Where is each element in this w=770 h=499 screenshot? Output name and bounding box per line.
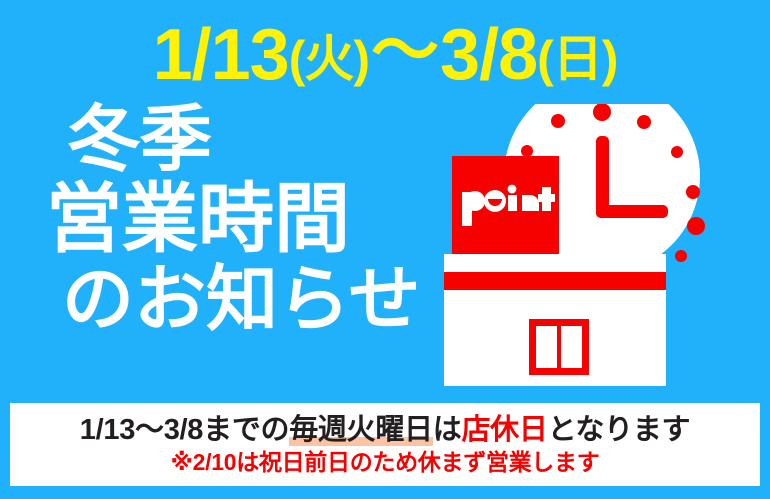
store-clock-illustration xyxy=(444,104,744,389)
main-copy: 冬季 営業時間 のお知らせ xyxy=(46,104,446,336)
main-copy-line-2: 営業時間 xyxy=(46,182,446,258)
notice-box: 1/13〜3/8までの毎週火曜日は店休日となります ※2/10は祝日前日のため休… xyxy=(10,403,760,486)
notice-closed-label: 店休日 xyxy=(461,414,547,446)
door-panel-right xyxy=(561,326,582,368)
door-panel-left xyxy=(536,326,557,368)
notice-particle: は xyxy=(433,414,462,446)
notice-period-text: 1/13〜3/8までの xyxy=(80,414,289,446)
store-entrance xyxy=(529,319,589,375)
headline-start-date: 1/13 xyxy=(153,19,289,91)
notice-suffix: となります xyxy=(548,414,691,446)
main-copy-line-3: のお知らせ xyxy=(62,264,446,336)
headline-end-day: (日) xyxy=(537,34,617,84)
building-stripe xyxy=(444,272,666,290)
clock-marker-10 xyxy=(521,145,533,157)
clock-marker-2 xyxy=(671,146,683,158)
headline-date-range: 1/13(火)〜3/8(日) xyxy=(0,16,770,94)
headline-range-mark: 〜 xyxy=(369,17,440,85)
main-copy-line-1: 冬季 xyxy=(68,104,446,176)
store-sign xyxy=(452,156,559,254)
clock-marker-3 xyxy=(687,217,705,235)
notice-closed-weekday-highlight: 毎週火曜日 xyxy=(289,414,433,446)
winter-hours-notice-banner: 1/13(火)〜3/8(日) 冬季 営業時間 のお知らせ xyxy=(0,0,770,499)
clock-marker-1 xyxy=(637,115,651,129)
notice-line-1: 1/13〜3/8までの毎週火曜日は店休日となります xyxy=(80,415,690,445)
clock-marker-3-small xyxy=(686,185,700,199)
clock-marker-11 xyxy=(551,114,565,128)
headline-start-day: (火) xyxy=(289,34,369,84)
clock-marker-4 xyxy=(675,250,687,262)
headline-end-date: 3/8 xyxy=(440,19,537,91)
clock-hand-minute xyxy=(596,205,668,218)
notice-line-2: ※2/10は祝日前日のため休まず営業します xyxy=(171,450,600,474)
